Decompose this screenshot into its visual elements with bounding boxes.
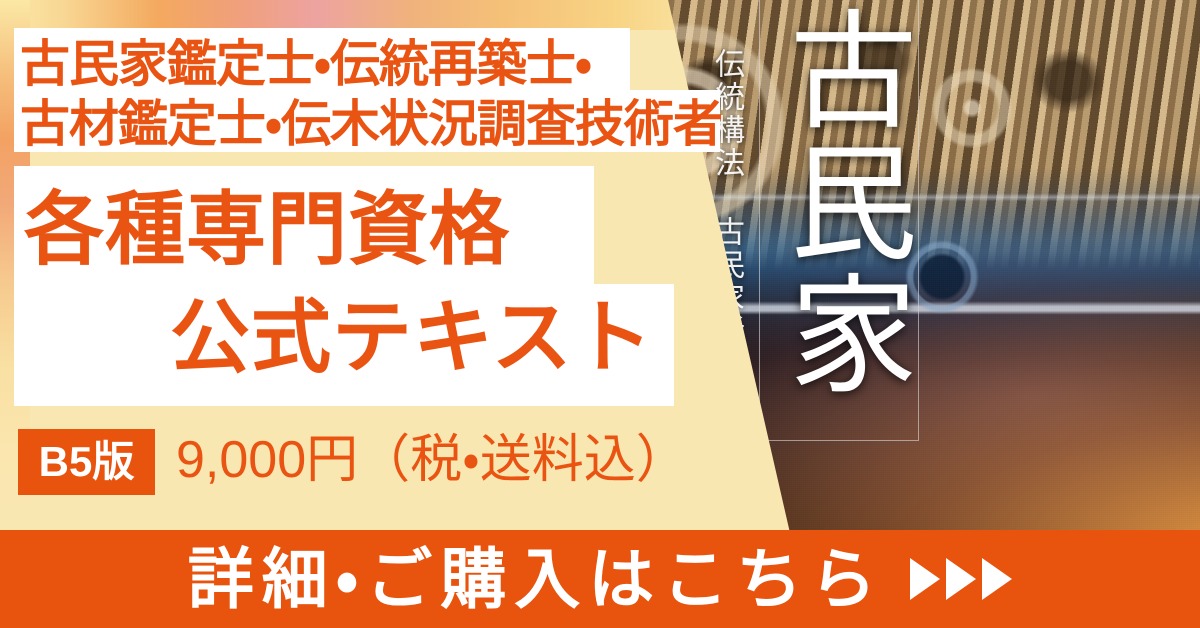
- cta-arrows: [910, 558, 1012, 600]
- format-badge: B5版: [18, 429, 155, 495]
- chevron-right-icon: [982, 558, 1012, 600]
- format-badge-label: B5版: [39, 441, 135, 483]
- title-line-1: 各種専門資格: [24, 190, 510, 270]
- chevron-right-icon: [910, 558, 940, 600]
- chevron-right-icon: [946, 558, 976, 600]
- title-line-2: 公式テキスト: [170, 298, 654, 378]
- headline-line-2: 古材鑑定士・伝木状況調査技術者: [20, 99, 740, 149]
- price-label: 9,000円（税・送料込）: [176, 434, 688, 486]
- cta-label: 詳細・ご購入はこちら: [188, 546, 884, 612]
- cta-bar[interactable]: 詳細・ご購入はこちら: [0, 530, 1200, 628]
- headline-line-1: 古民家鑑定士・伝統再築士・: [20, 39, 740, 89]
- promo-banner: 古民家 伝統構法 古民家活用のための調査と再生の 古民家鑑定士・伝統再築士・ 古…: [0, 0, 1200, 628]
- book-cover-title: 古民家: [770, 4, 906, 434]
